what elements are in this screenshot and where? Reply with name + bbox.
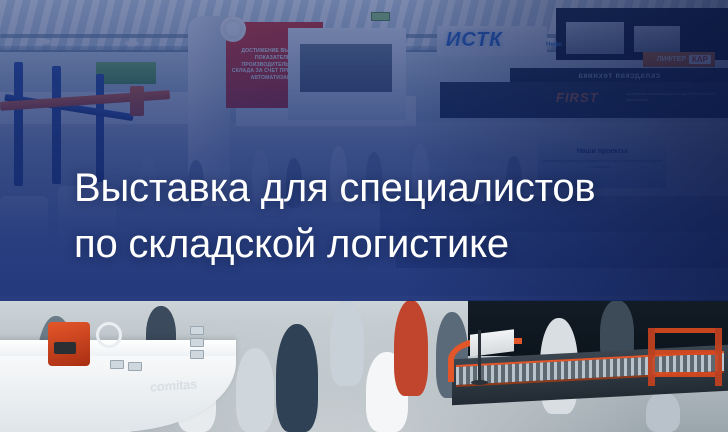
- hero-banner: Достижение высоких показателей производи…: [0, 0, 728, 432]
- page-title: Выставка для специалистов по складской л…: [74, 160, 694, 272]
- booth-tablet: [190, 350, 204, 359]
- visitor-figure: [394, 300, 428, 396]
- red-pallet-racking: [648, 328, 722, 386]
- headline-line-2: по складской логистике: [74, 216, 694, 272]
- booth-chair: [96, 322, 122, 348]
- booth-tablet: [190, 326, 204, 335]
- visitor-figure: [276, 324, 318, 432]
- stanchion-post: [478, 330, 481, 382]
- orange-machine: [48, 322, 90, 366]
- headline-line-1: Выставка для специалистов: [74, 166, 595, 210]
- booth-tablet: [128, 362, 142, 371]
- stanchion-base: [471, 380, 488, 385]
- booth-tablet: [110, 360, 124, 369]
- visitor-figure: [236, 348, 274, 432]
- booth-tablet: [190, 338, 204, 347]
- visitor-figure: [646, 392, 680, 432]
- visitor-figure: [330, 300, 364, 386]
